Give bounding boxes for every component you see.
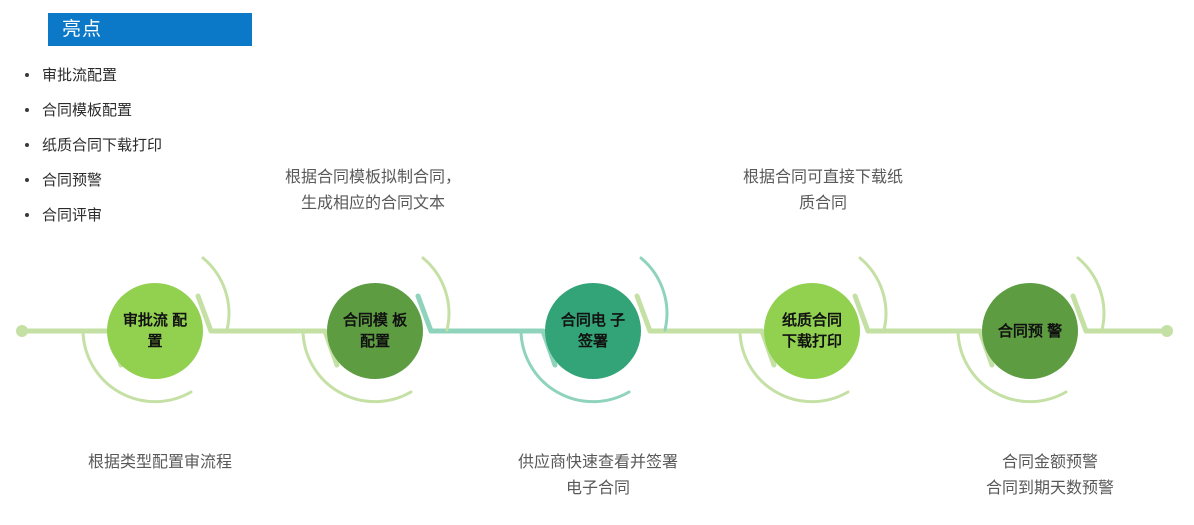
caption-top-contract-template: 根据合同模板拟制合同， 生成相应的合同文本 (238, 165, 508, 217)
flow-node-label: 合同模 板配置 (339, 310, 411, 352)
caption-bottom-supplier-sign: 供应商快速查看并签署 电子合同 (463, 450, 733, 502)
caption-bottom-approval-flow: 根据类型配置审流程 (30, 450, 290, 476)
flow-node-label: 纸质合同 下载打印 (776, 310, 848, 352)
flow-node-label: 合同电 子签署 (557, 310, 629, 352)
caption-bottom-contract-alert: 合同金额预警 合同到期天数预警 (915, 450, 1185, 502)
connector-segment (198, 296, 337, 365)
connector-segment (22, 331, 121, 365)
flow-node-paper-contract-print[interactable]: 纸质合同 下载打印 (764, 283, 860, 379)
flow-node-contract-template-config[interactable]: 合同模 板配置 (327, 283, 423, 379)
connector-segment (1073, 296, 1167, 331)
connector-segment (637, 296, 774, 365)
slide-canvas: 亮点 审批流配置 合同模板配置 纸质合同下载打印 合同预警 合同评审 (0, 0, 1194, 525)
flow-node-approval-config[interactable]: 审批流 配置 (107, 283, 203, 379)
process-flow-diagram: 审批流 配置 合同模 板配置 合同电 子签署 纸质合同 下载打印 合同预 警 根… (0, 0, 1194, 525)
flow-node-label: 审批流 配置 (119, 310, 191, 352)
flow-node-label: 合同预 警 (994, 321, 1066, 342)
caption-top-paper-contract: 根据合同可直接下载纸 质合同 (688, 165, 958, 217)
flow-node-electronic-signature[interactable]: 合同电 子签署 (545, 283, 641, 379)
connector-segment-accent (418, 296, 555, 365)
flow-connectors (0, 0, 1194, 525)
flow-node-contract-alert[interactable]: 合同预 警 (982, 283, 1078, 379)
connector-segment (855, 296, 992, 365)
